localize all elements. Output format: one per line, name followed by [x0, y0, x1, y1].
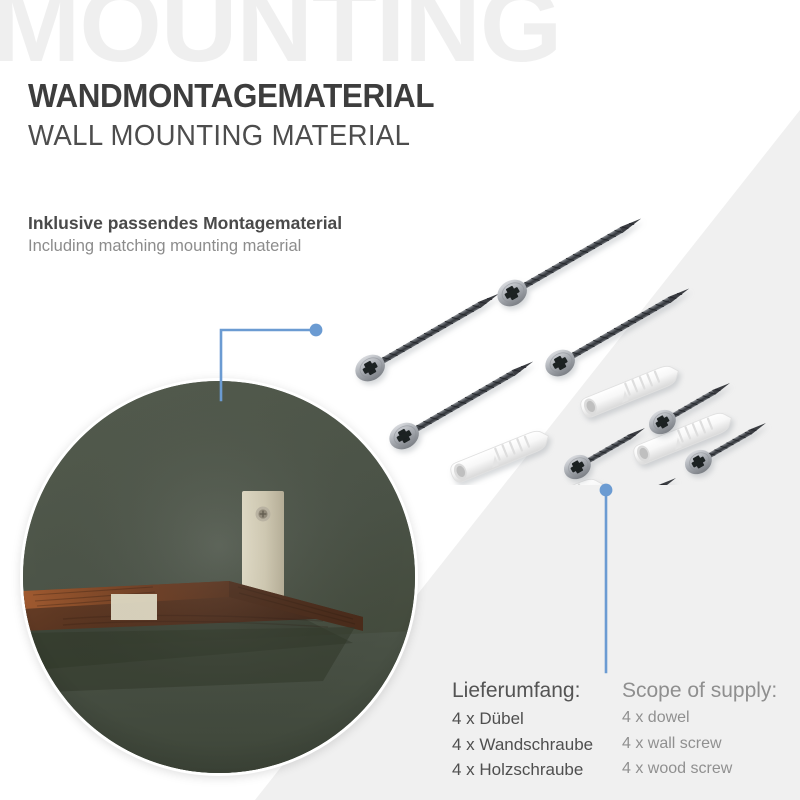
scope-of-supply-block: Lieferumfang: Scope of supply: 4 x Dübel… — [452, 676, 777, 783]
supply-header-english: Scope of supply: — [622, 676, 777, 706]
infographic-canvas: MOUNTING WANDMONTAGEMATERIAL WALL MOUNTI… — [0, 0, 800, 800]
subtitle-english: Including matching mounting material — [28, 236, 342, 258]
product-photo-inset — [20, 378, 418, 776]
supply-row-german: 4 x Wandschraube — [452, 732, 622, 758]
supply-header-german: Lieferumfang: — [452, 676, 622, 706]
supply-row-english: 4 x wall screw — [622, 732, 777, 758]
page-title-block: WANDMONTAGEMATERIAL WALL MOUNTING MATERI… — [28, 78, 455, 154]
supply-row-english: 4 x wood screw — [622, 757, 777, 783]
supply-row-german: 4 x Dübel — [452, 706, 622, 732]
subtitle-german: Inklusive passendes Montagematerial — [28, 212, 342, 235]
watermark-mounting: MOUNTING — [0, 0, 561, 78]
subtitle-block: Inklusive passendes Montagematerial Incl… — [28, 212, 342, 258]
product-photo-image — [23, 381, 415, 773]
wood-screw-group — [560, 373, 772, 485]
supply-row-german: 4 x Holzschraube — [452, 757, 622, 783]
scope-of-supply-grid: Lieferumfang: Scope of supply: 4 x Dübel… — [452, 676, 777, 783]
page-title-german: WANDMONTAGEMATERIAL — [28, 78, 434, 115]
supply-row-english: 4 x dowel — [622, 706, 777, 732]
page-title-english: WALL MOUNTING MATERIAL — [28, 119, 434, 154]
